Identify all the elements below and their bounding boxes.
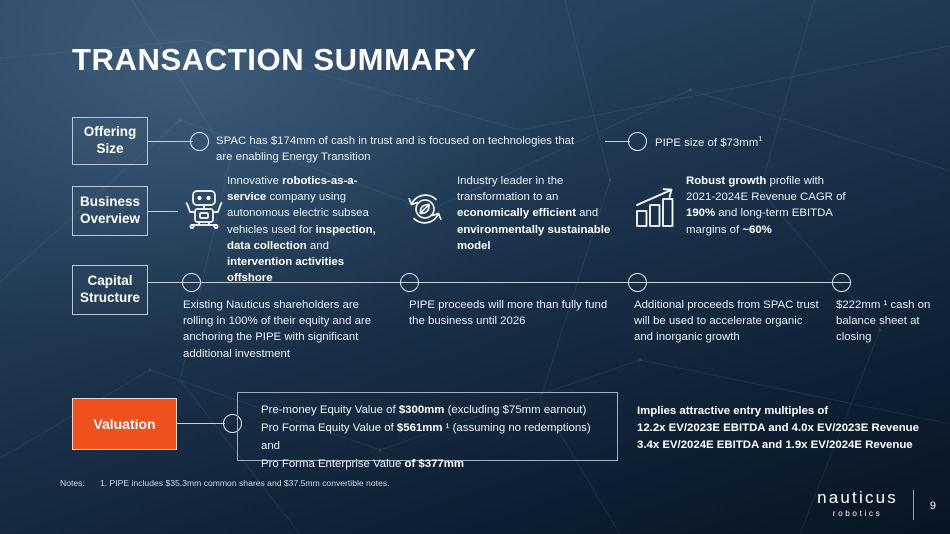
connector-valuation: [177, 423, 225, 424]
node-offering-2: [628, 132, 647, 151]
leaf-recycle-icon: [404, 188, 446, 230]
capital-structure-text-1: Existing Nauticus shareholders are rolli…: [183, 297, 388, 362]
category-label-capital-line2: Structure: [80, 290, 140, 307]
nauticus-logo: nauticus robotics: [817, 489, 898, 518]
category-label-business-line2: Overview: [80, 211, 140, 228]
implied-multiples-line-3: 3.4x EV/2024E EBITDA and 1.9x EV/2024E R…: [637, 437, 937, 454]
capital-structure-text-4: $222mm ¹ cash on balance sheet at closin…: [836, 297, 936, 346]
node-offering-1: [190, 132, 209, 151]
slide-root: TRANSACTION SUMMARY Offering Size SPAC h…: [0, 0, 950, 534]
offering-size-text-2: PIPE size of $73mm1: [655, 134, 885, 151]
node-capital-2: [400, 273, 419, 292]
node-capital-1: [182, 273, 201, 292]
growth-bar-chart-icon: [634, 185, 680, 229]
logo-subtext: robotics: [817, 509, 898, 518]
connector-pipe: [605, 141, 630, 142]
implied-multiples-line-2: 12.2x EV/2023E EBITDA and 4.0x EV/2023E …: [637, 420, 937, 437]
valuation-box: Valuation: [72, 398, 177, 450]
node-capital-4: [832, 273, 851, 292]
business-overview-text-1: Innovative robotics-as-a-service company…: [227, 173, 387, 286]
business-overview-text-3: Robust growth profile with 2021-2024E Re…: [686, 173, 856, 238]
node-capital-3: [628, 273, 647, 292]
valuation-label: Valuation: [93, 416, 155, 432]
robot-icon: [180, 184, 228, 232]
capital-structure-timeline: [190, 282, 850, 283]
footer-divider: [913, 490, 914, 520]
connector-offering: [148, 141, 193, 142]
category-label-business-line1: Business: [80, 194, 140, 211]
notes-text: 1. PIPE includes $35.3mm common shares a…: [100, 478, 389, 488]
logo-wordmark: nauticus: [817, 489, 898, 506]
page-number: 9: [930, 500, 936, 512]
category-box-capital-structure: Capital Structure: [72, 265, 148, 315]
category-label-offering-line2: Size: [84, 141, 137, 158]
capital-structure-text-3: Additional proceeds from SPAC trust will…: [634, 297, 824, 346]
category-box-business-overview: Business Overview: [72, 186, 148, 236]
valuation-details-text: Pre-money Equity Value of $300mm (exclud…: [261, 401, 611, 473]
business-overview-text-2: Industry leader in the transformation to…: [457, 173, 627, 254]
category-box-offering-size: Offering Size: [72, 117, 148, 165]
connector-business: [148, 211, 178, 212]
implied-multiples-line-1: Implies attractive entry multiples of: [637, 403, 937, 420]
page-title: TRANSACTION SUMMARY: [72, 42, 477, 78]
category-label-offering-line1: Offering: [84, 124, 137, 141]
category-label-capital-line1: Capital: [80, 273, 140, 290]
capital-structure-text-2: PIPE proceeds will more than fully fund …: [409, 297, 609, 329]
implied-multiples-text: Implies attractive entry multiples of 12…: [637, 403, 937, 454]
notes-label: Notes:: [60, 478, 85, 488]
footnote-marker-pipe: 1: [758, 134, 762, 143]
offering-size-text-1: SPAC has $174mm of cash in trust and is …: [216, 133, 586, 165]
